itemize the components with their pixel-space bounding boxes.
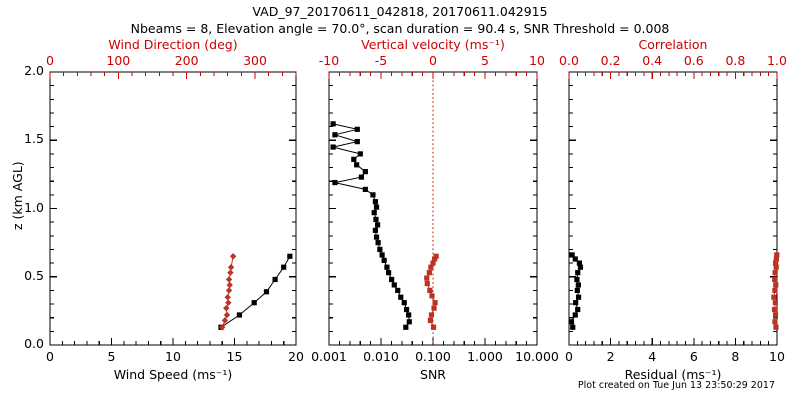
tick-label-top-wind-1: 100 [106, 55, 130, 68]
panel-frame-wind [50, 72, 296, 345]
tick-label-bottom-wind-3: 15 [227, 351, 243, 364]
series-line-snr-0 [333, 124, 409, 327]
data-point-residual-1 [772, 319, 777, 324]
tick-label-top-residual-5: 1.0 [767, 55, 787, 68]
tick-label-bottom-residual-1: 2 [607, 351, 615, 364]
data-point-snr-0 [382, 258, 387, 263]
tick-label-top-wind-3: 300 [243, 55, 267, 68]
data-point-snr-1 [425, 281, 430, 286]
data-point-snr-0 [331, 121, 336, 126]
data-point-snr-0 [386, 270, 391, 275]
data-point-wind-1 [224, 312, 230, 318]
data-point-residual-0 [573, 300, 578, 305]
data-point-residual-0 [576, 282, 581, 287]
tick-label-top-snr-3: 5 [481, 55, 489, 68]
data-point-snr-0 [351, 157, 356, 162]
tick-label-top-residual-1: 0.2 [601, 55, 621, 68]
data-point-wind-0 [237, 312, 242, 317]
data-point-snr-0 [380, 252, 385, 257]
tick-label-top-wind-2: 200 [175, 55, 199, 68]
data-point-wind-1 [227, 282, 233, 288]
data-point-snr-1 [432, 300, 437, 305]
data-point-wind-0 [264, 289, 269, 294]
data-point-residual-1 [773, 312, 778, 317]
tick-label-bottom-wind-4: 20 [288, 351, 304, 364]
data-point-snr-0 [392, 282, 397, 287]
data-point-residual-0 [574, 277, 579, 282]
axis-title-top-residual: Correlation [639, 39, 708, 52]
data-point-snr-1 [434, 254, 439, 259]
data-point-wind-1 [226, 276, 232, 282]
data-point-residual-1 [772, 307, 777, 312]
tick-label-bottom-residual-2: 4 [648, 351, 656, 364]
data-point-wind-1 [226, 287, 232, 293]
data-point-snr-0 [372, 210, 377, 215]
data-point-residual-1 [774, 252, 779, 257]
data-point-snr-0 [332, 180, 337, 185]
data-point-residual-0 [570, 252, 575, 257]
data-point-snr-0 [355, 139, 360, 144]
data-point-snr-1 [429, 312, 434, 317]
axis-title-bottom-wind: Wind Speed (ms⁻¹) [114, 369, 233, 382]
data-point-wind-0 [287, 254, 292, 259]
data-point-snr-0 [407, 319, 412, 324]
tick-label-top-residual-4: 0.8 [725, 55, 745, 68]
data-point-snr-0 [374, 235, 379, 240]
axis-title-bottom-snr: SNR [420, 369, 446, 382]
data-point-snr-0 [377, 247, 382, 252]
tick-label-y-0: 0.0 [24, 338, 44, 351]
axis-title-top-snr: Vertical velocity (ms⁻¹) [361, 39, 505, 52]
data-point-snr-0 [331, 144, 336, 149]
data-point-residual-1 [772, 288, 777, 293]
data-point-snr-0 [404, 307, 409, 312]
data-point-residual-1 [773, 325, 778, 330]
tick-label-bottom-snr-1: 0.010 [363, 351, 399, 364]
tick-label-y-2: 1.0 [24, 202, 44, 215]
data-point-snr-0 [355, 127, 360, 132]
tick-label-bottom-snr-4: 10.000 [515, 351, 559, 364]
data-point-snr-0 [363, 187, 368, 192]
data-point-snr-1 [431, 325, 436, 330]
data-point-snr-0 [354, 162, 359, 167]
data-point-wind-1 [227, 269, 233, 275]
tick-label-top-wind-0: 0 [46, 55, 54, 68]
data-point-wind-1 [230, 253, 236, 259]
data-point-wind-1 [228, 264, 234, 270]
tick-label-bottom-snr-0: 0.001 [311, 351, 347, 364]
data-point-wind-1 [224, 294, 230, 300]
tick-label-bottom-snr-2: 0.100 [415, 351, 451, 364]
tick-label-top-residual-2: 0.4 [642, 55, 662, 68]
data-point-snr-0 [389, 277, 394, 282]
data-point-snr-1 [431, 306, 436, 311]
data-point-snr-0 [373, 228, 378, 233]
tick-label-top-snr-1: -5 [375, 55, 387, 68]
data-point-snr-0 [403, 325, 408, 330]
data-point-snr-1 [427, 288, 432, 293]
data-point-residual-0 [575, 270, 580, 275]
data-point-snr-0 [373, 199, 378, 204]
tick-label-top-snr-2: 0 [429, 55, 437, 68]
tick-label-top-residual-3: 0.6 [684, 55, 704, 68]
data-point-residual-0 [575, 288, 580, 293]
data-point-snr-0 [398, 295, 403, 300]
data-point-residual-1 [773, 300, 778, 305]
tick-label-bottom-snr-3: 1.000 [467, 351, 503, 364]
data-point-snr-0 [406, 312, 411, 317]
tick-label-y-4: 2.0 [24, 65, 44, 78]
data-point-snr-0 [402, 300, 407, 305]
data-point-residual-1 [772, 277, 777, 282]
data-point-residual-0 [570, 325, 575, 330]
data-point-snr-0 [332, 132, 337, 137]
data-point-snr-0 [395, 288, 400, 293]
data-point-residual-1 [773, 270, 778, 275]
tick-label-top-residual-0: 0.0 [559, 55, 579, 68]
data-point-snr-0 [374, 205, 379, 210]
data-point-residual-0 [575, 307, 580, 312]
tick-label-top-snr-0: -10 [319, 55, 339, 68]
data-point-wind-1 [223, 305, 229, 311]
tick-label-bottom-residual-4: 8 [731, 351, 739, 364]
data-point-residual-1 [771, 295, 776, 300]
data-point-snr-0 [358, 151, 363, 156]
data-point-snr-1 [424, 276, 429, 281]
data-point-snr-1 [427, 270, 432, 275]
data-point-wind-0 [252, 300, 257, 305]
data-point-snr-0 [375, 222, 380, 227]
tick-label-y-3: 1.5 [24, 133, 44, 146]
axis-title-bottom-residual: Residual (ms⁻¹) [625, 369, 722, 382]
tick-label-bottom-residual-0: 0 [565, 351, 573, 364]
data-point-snr-1 [429, 293, 434, 298]
data-point-snr-1 [428, 318, 433, 323]
data-point-snr-0 [373, 217, 378, 222]
data-point-residual-0 [573, 312, 578, 317]
panel-frame-residual [569, 72, 777, 345]
data-point-snr-0 [376, 240, 381, 245]
tick-label-y-1: 0.5 [24, 270, 44, 283]
vad-plot-figure: VAD_97_20170611_042818, 20170611.042915 … [0, 0, 800, 400]
tick-label-bottom-wind-1: 5 [108, 351, 116, 364]
data-point-snr-0 [384, 265, 389, 270]
data-point-wind-1 [225, 299, 231, 305]
tick-label-top-snr-4: 10 [529, 55, 545, 68]
data-point-residual-0 [576, 295, 581, 300]
data-point-snr-0 [359, 175, 364, 180]
tick-label-bottom-residual-3: 6 [690, 351, 698, 364]
data-point-snr-0 [370, 192, 375, 197]
data-point-wind-0 [272, 277, 277, 282]
tick-label-bottom-wind-2: 10 [165, 351, 181, 364]
data-point-wind-0 [281, 265, 286, 270]
data-point-snr-0 [363, 169, 368, 174]
data-point-residual-0 [569, 319, 574, 324]
tick-label-bottom-wind-0: 0 [46, 351, 54, 364]
axis-title-top-wind: Wind Direction (deg) [108, 39, 237, 52]
data-point-residual-1 [773, 282, 778, 287]
tick-label-bottom-residual-5: 10 [769, 351, 785, 364]
